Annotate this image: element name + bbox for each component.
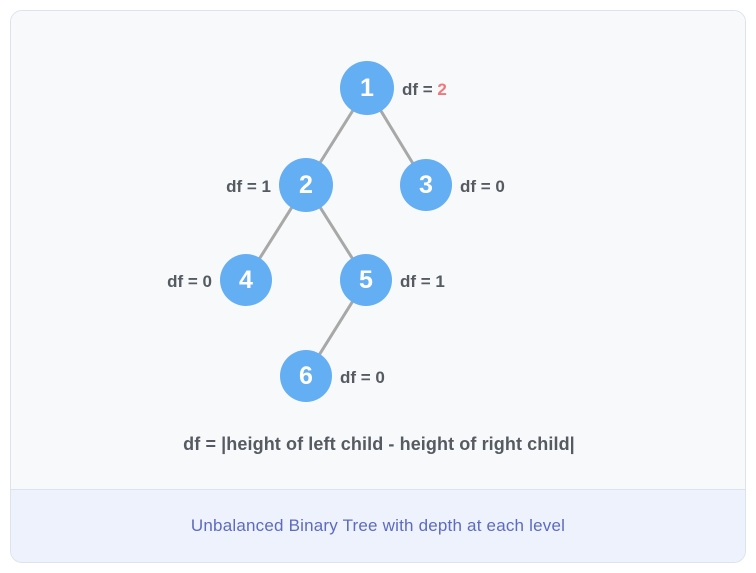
- node-value: 3: [419, 171, 433, 199]
- node-value: 5: [359, 266, 373, 294]
- node-df-label: df = 1: [226, 177, 271, 196]
- tree-edge: [320, 207, 353, 259]
- df-formula-text: df = |height of left child - height of r…: [11, 434, 745, 455]
- tree-node-1[interactable]: 1df = 2: [340, 61, 447, 115]
- node-df-label: df = 0: [167, 272, 212, 291]
- binary-tree-svg: 1df = 22df = 13df = 04df = 05df = 16df =…: [11, 11, 745, 489]
- df-prefix: df =: [167, 272, 202, 291]
- node-df-label: df = 2: [402, 80, 447, 99]
- tree-diagram-area: 1df = 22df = 13df = 04df = 05df = 16df =…: [11, 11, 745, 489]
- df-prefix: df =: [400, 272, 435, 291]
- node-value: 1: [360, 74, 374, 102]
- node-value: 4: [239, 266, 253, 294]
- tree-node-3[interactable]: 3df = 0: [400, 159, 505, 211]
- tree-edge: [381, 110, 413, 163]
- df-prefix: df =: [460, 177, 495, 196]
- tree-node-5[interactable]: 5df = 1: [340, 254, 445, 306]
- node-value: 6: [299, 362, 313, 390]
- node-df-label: df = 1: [400, 272, 445, 291]
- df-value: 1: [262, 177, 271, 196]
- df-value: 2: [437, 80, 446, 99]
- figure-card: 1df = 22df = 13df = 04df = 05df = 16df =…: [10, 10, 746, 563]
- tree-edges: [259, 110, 413, 355]
- df-prefix: df =: [226, 177, 261, 196]
- node-value: 2: [299, 171, 313, 199]
- tree-edge: [259, 207, 292, 259]
- tree-node-2[interactable]: 2df = 1: [226, 158, 333, 212]
- tree-edge: [320, 110, 353, 163]
- tree-edge: [319, 301, 353, 355]
- tree-node-4[interactable]: 4df = 0: [167, 254, 272, 306]
- figure-caption: Unbalanced Binary Tree with depth at eac…: [191, 516, 565, 536]
- df-value: 0: [203, 272, 212, 291]
- df-value: 0: [375, 368, 384, 387]
- node-df-label: df = 0: [340, 368, 385, 387]
- figure-footer: Unbalanced Binary Tree with depth at eac…: [11, 489, 745, 562]
- df-prefix: df =: [402, 80, 437, 99]
- tree-node-6[interactable]: 6df = 0: [280, 350, 385, 402]
- node-df-label: df = 0: [460, 177, 505, 196]
- df-value: 1: [435, 272, 444, 291]
- df-value: 0: [495, 177, 504, 196]
- df-prefix: df =: [340, 368, 375, 387]
